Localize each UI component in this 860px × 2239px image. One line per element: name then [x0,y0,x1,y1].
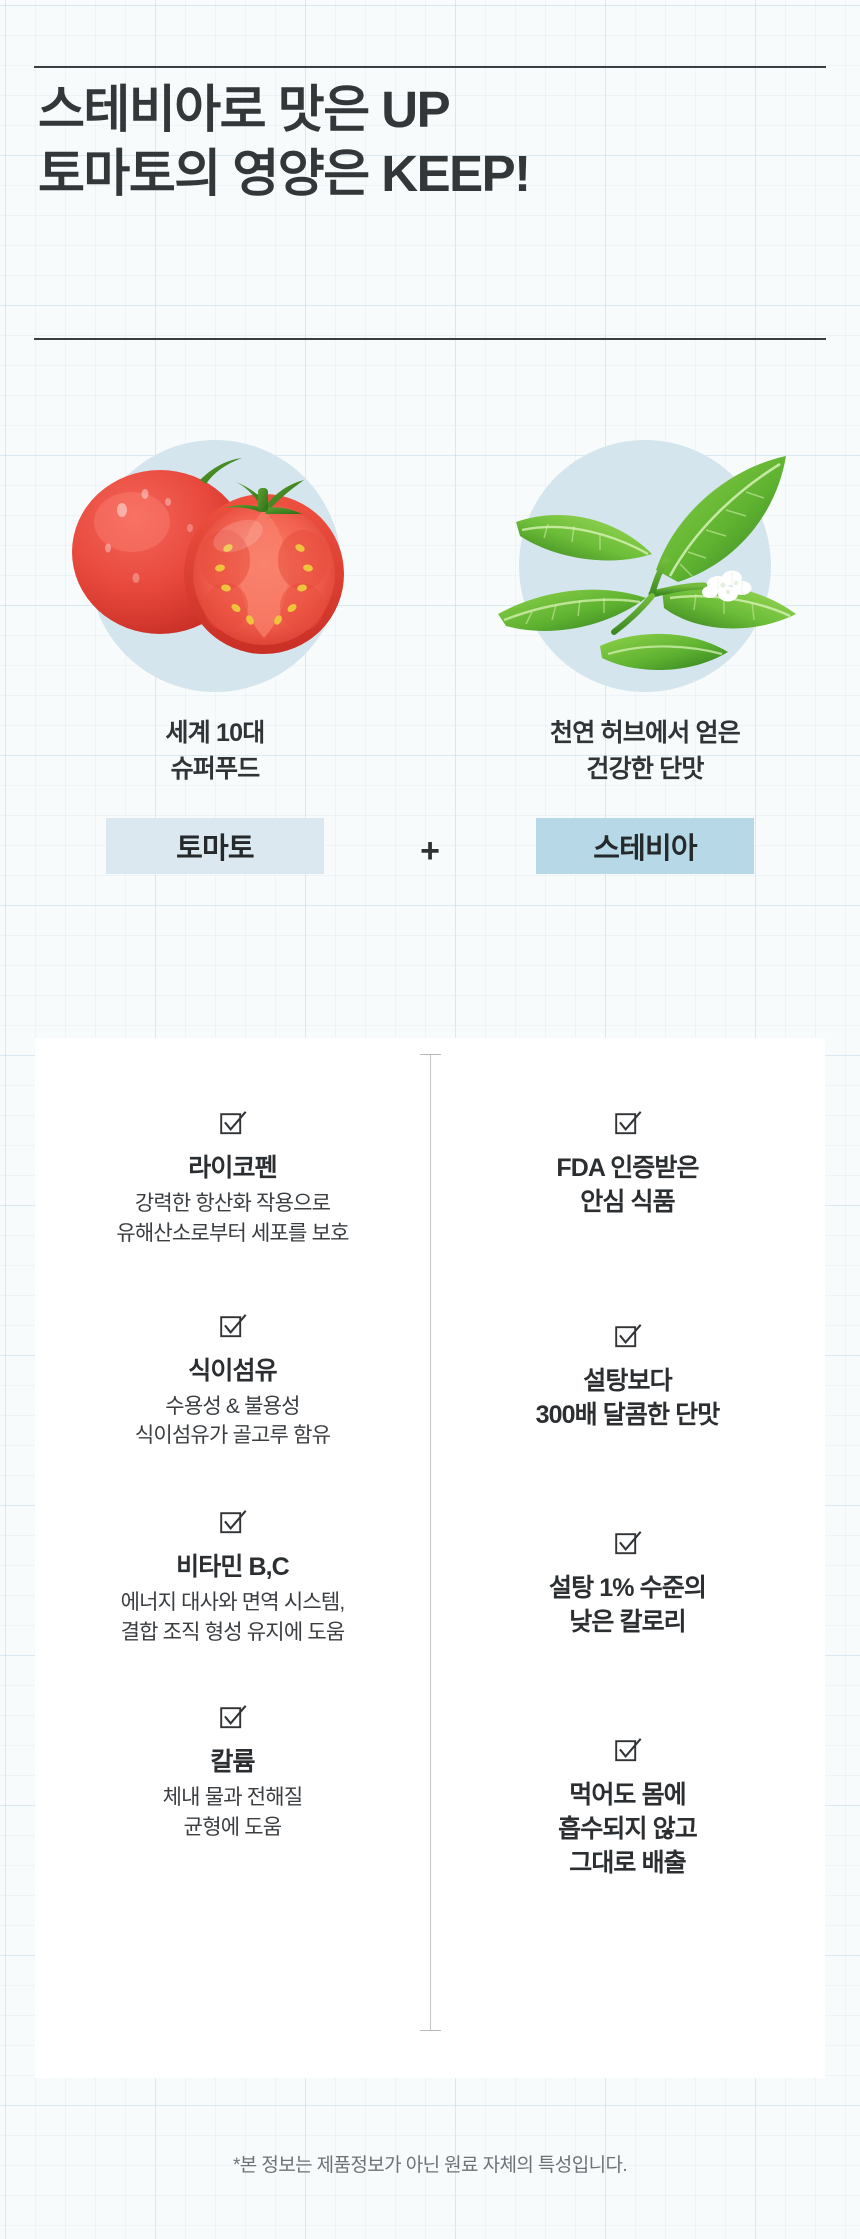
chip-stevia: 스테비아 [536,818,754,874]
benefit-title: 설탕 1% 수준의 낮은 칼로리 [448,1571,807,1639]
benefit-item: 라이코펜 강력한 항산화 작용으로 유해산소로부터 세포를 보호 [35,1108,430,1249]
checkbox-checked-icon [613,1321,643,1351]
stevia-caption: 천연 허브에서 얻은 건강한 단맛 [465,716,825,787]
benefit-description: 체내 물과 전해질 균형에 도움 [53,1783,412,1843]
benefit-desc-line: 유해산소로부터 세포를 보호 [53,1219,412,1249]
benefit-desc-line: 결합 조직 형성 유지에 도움 [53,1618,412,1648]
benefit-title: 칼륨 [53,1745,412,1779]
benefit-title: 설탕보다 300배 달콤한 단맛 [448,1364,807,1432]
benefit-item: 비타민 B,C 에너지 대사와 면역 시스템, 결합 조직 형성 유지에 도움 [35,1507,430,1648]
benefit-description: 강력한 항산화 작용으로 유해산소로부터 세포를 보호 [53,1189,412,1249]
benefit-title: 먹어도 몸에 흡수되지 않고 그대로 배출 [448,1778,807,1880]
ingredient-hero: 세계 10대 슈퍼푸드 토마토 + [0,380,860,1020]
header-rule-top [34,66,826,68]
benefit-title: FDA 인증받은 안심 식품 [448,1151,807,1219]
benefit-item: 설탕 1% 수준의 낮은 칼로리 [430,1528,825,1639]
ingredient-stevia: 천연 허브에서 얻은 건강한 단맛 스테비아 [465,380,825,1020]
benefit-title-line: 설탕보다 [448,1364,807,1398]
checkbox-checked-icon [218,1702,248,1732]
benefit-item: FDA 인증받은 안심 식품 [430,1108,825,1219]
benefit-title: 라이코펜 [53,1151,412,1185]
stevia-caption-line-2: 건강한 단맛 [465,752,825,788]
page-title: 스테비아로 맛은 UP 토마토의 영양은 KEEP! [38,78,818,207]
checkbox-checked-icon [613,1528,643,1558]
benefit-desc-line: 균형에 도움 [53,1813,412,1843]
tomato-caption-line-1: 세계 10대 [35,716,395,752]
page-title-line-2: 토마토의 영양은 KEEP! [38,142,818,206]
benefit-desc-line: 수용성 & 불용성 [53,1392,412,1422]
tomato-illustration [50,402,380,702]
benefit-title-line: 안심 식품 [448,1185,807,1219]
benefit-title-line: 설탕 1% 수준의 [448,1571,807,1605]
benefit-desc-line: 에너지 대사와 면역 시스템, [53,1588,412,1618]
benefit-description: 에너지 대사와 면역 시스템, 결합 조직 형성 유지에 도움 [53,1588,412,1648]
benefit-title-line: 식이섬유 [53,1354,412,1388]
stevia-caption-line-1: 천연 허브에서 얻은 [465,716,825,752]
benefit-item: 설탕보다 300배 달콤한 단맛 [430,1321,825,1432]
benefit-title-line: 칼륨 [53,1745,412,1779]
checkbox-checked-icon [218,1507,248,1537]
checkbox-checked-icon [218,1108,248,1138]
benefit-desc-line: 체내 물과 전해질 [53,1783,412,1813]
footnote: *본 정보는 제품정보가 아닌 원료 자체의 특성입니다. [0,2150,860,2177]
benefit-title-line: 라이코펜 [53,1151,412,1185]
tomato-caption: 세계 10대 슈퍼푸드 [35,716,395,787]
benefits-card: 라이코펜 강력한 항산화 작용으로 유해산소로부터 세포를 보호 식이섬유 [35,1038,825,2078]
benefit-title-line: 낮은 칼로리 [448,1605,807,1639]
checkbox-checked-icon [613,1108,643,1138]
checkbox-checked-icon [218,1311,248,1341]
tomato-caption-line-2: 슈퍼푸드 [35,752,395,788]
benefits-column-stevia: FDA 인증받은 안심 식품 설탕보다 300배 달콤한 단맛 [430,1038,825,2078]
benefit-title-line: 먹어도 몸에 [448,1778,807,1812]
benefit-desc-line: 강력한 항산화 작용으로 [53,1189,412,1219]
benefit-title-line: 비타민 B,C [53,1550,412,1584]
ingredient-tomato: 세계 10대 슈퍼푸드 토마토 [35,380,395,1020]
page-title-line-1: 스테비아로 맛은 UP [38,78,818,142]
benefit-description: 수용성 & 불용성 식이섬유가 골고루 함유 [53,1392,412,1452]
header-rule-bottom [34,338,826,340]
benefit-item: 식이섬유 수용성 & 불용성 식이섬유가 골고루 함유 [35,1311,430,1452]
benefit-title-line: FDA 인증받은 [448,1151,807,1185]
benefit-title: 비타민 B,C [53,1550,412,1584]
benefit-item: 칼륨 체내 물과 전해질 균형에 도움 [35,1702,430,1843]
checkbox-checked-icon [613,1735,643,1765]
benefit-desc-line: 식이섬유가 골고루 함유 [53,1421,412,1451]
benefit-item: 먹어도 몸에 흡수되지 않고 그대로 배출 [430,1735,825,1880]
benefit-title: 식이섬유 [53,1354,412,1388]
benefits-column-tomato: 라이코펜 강력한 항산화 작용으로 유해산소로부터 세포를 보호 식이섬유 [35,1038,430,2078]
benefit-title-line: 흡수되지 않고 [448,1812,807,1846]
benefit-title-line: 그대로 배출 [448,1846,807,1880]
benefit-title-line: 300배 달콤한 단맛 [448,1398,807,1432]
stevia-leaf-illustration [480,402,810,702]
